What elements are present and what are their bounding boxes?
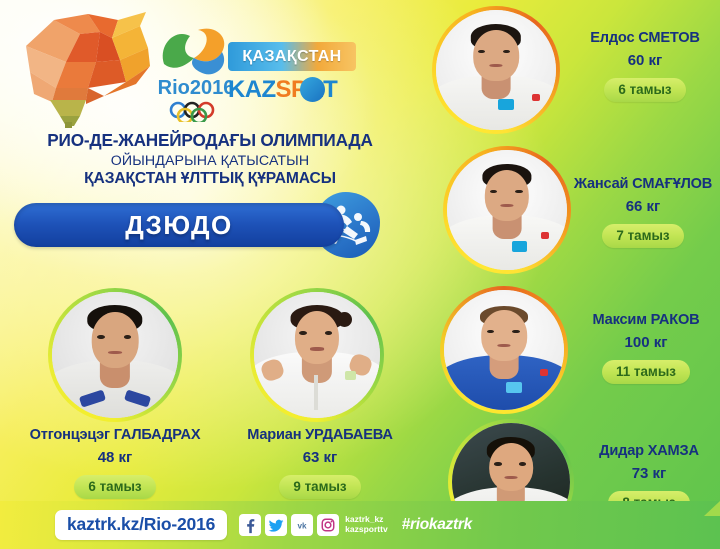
athlete-info-smagulov: Жансай СМАҒҰЛОВ 66 кг 7 тамыз [566,176,720,248]
athlete-date-badge: 7 тамыз [602,224,683,248]
vk-icon[interactable]: vk [291,514,313,536]
twitter-icon[interactable] [265,514,287,536]
poster-title-line1: РИО-ДЕ-ЖАНЕЙРОДАҒЫ ОЛИМПИАДА [20,130,400,151]
athlete-info-urdabaeva: Мариан УРДАБАЕВА 63 кг 9 тамыз [215,427,425,499]
broadcaster-logos: ҚАЗАҚСТАН KAZSPRT [228,42,358,104]
athlete-name: Жансай СМАҒҰЛОВ [566,176,720,192]
footer-bar: kaztrk.kz/Rio-2016 vk kaztrk_kz kazsport [0,501,720,549]
poster-title-line3: ҚАЗАҚСТАН ҰЛТТЫҚ ҚҰРАМАСЫ [20,170,400,188]
athlete-date-badge: 6 тамыз [604,78,685,102]
instagram-icon[interactable] [317,514,339,536]
poster-title-line2: ОЙЫНДАРЫНА ҚАТЫСАТЫН [20,153,400,169]
athlete-name: Максим РАКОВ [572,312,720,328]
athlete-photo-smagulov [443,146,571,274]
athlete-date-badge: 9 тамыз [279,475,360,499]
olympic-torch-logo [8,4,153,129]
kazakhstan-tv-logo: ҚАЗАҚСТАН [228,42,356,71]
sport-name: ДЗЮДО [125,210,233,241]
athlete-weight: 63 кг [215,449,425,466]
athlete-name: Дидар ХАМЗА [578,443,720,459]
athlete-photo-smetov [432,6,560,134]
athlete-weight: 60 кг [570,52,720,69]
athlete-weight: 73 кг [578,465,720,482]
athlete-name: Мариан УРДАБАЕВА [215,427,425,443]
sport-title-bar: ДЗЮДО [14,203,344,247]
kazsport-logo-kaz: KAZ [228,76,276,103]
athlete-photo-urdabaeva [250,288,384,422]
athlete-photo-rakov [440,286,568,414]
athlete-name: Отгонцэцэг ГАЛБАДРАХ [5,427,225,443]
athlete-weight: 100 кг [572,334,720,351]
kazsport-swoosh-icon [300,77,325,102]
social-handles: kaztrk_kz kazsporttv [345,515,388,535]
athlete-weight: 48 кг [5,449,225,466]
facebook-icon[interactable] [239,514,261,536]
hashtag: #riokaztrk [402,516,472,534]
website-url[interactable]: kaztrk.kz/Rio-2016 [55,510,227,540]
svg-text:vk: vk [298,522,308,531]
kazsport-logo: KAZSPRT [228,76,358,104]
athlete-info-rakov: Максим РАКОВ 100 кг 11 тамыз [572,312,720,384]
athlete-photo-galbadrakh [48,288,182,422]
social-icons: vk [239,514,339,536]
social-handle-2: kazsporttv [345,525,388,535]
athlete-date-badge: 6 тамыз [74,475,155,499]
athlete-name: Елдос СМЕТОВ [570,30,720,46]
athlete-info-galbadrakh: Отгонцэцэг ГАЛБАДРАХ 48 кг 6 тамыз [5,427,225,499]
athlete-weight: 66 кг [566,198,720,215]
athlete-date-badge: 11 тамыз [602,360,690,384]
svg-text:Rio2016: Rio2016 [158,77,235,99]
athlete-info-smetov: Елдос СМЕТОВ 60 кг 6 тамыз [570,30,720,102]
olympic-team-poster: Rio2016 ҚАЗАҚСТАН KAZSPRT РИО-ДЕ-ЖАНЕЙРО… [0,0,720,549]
